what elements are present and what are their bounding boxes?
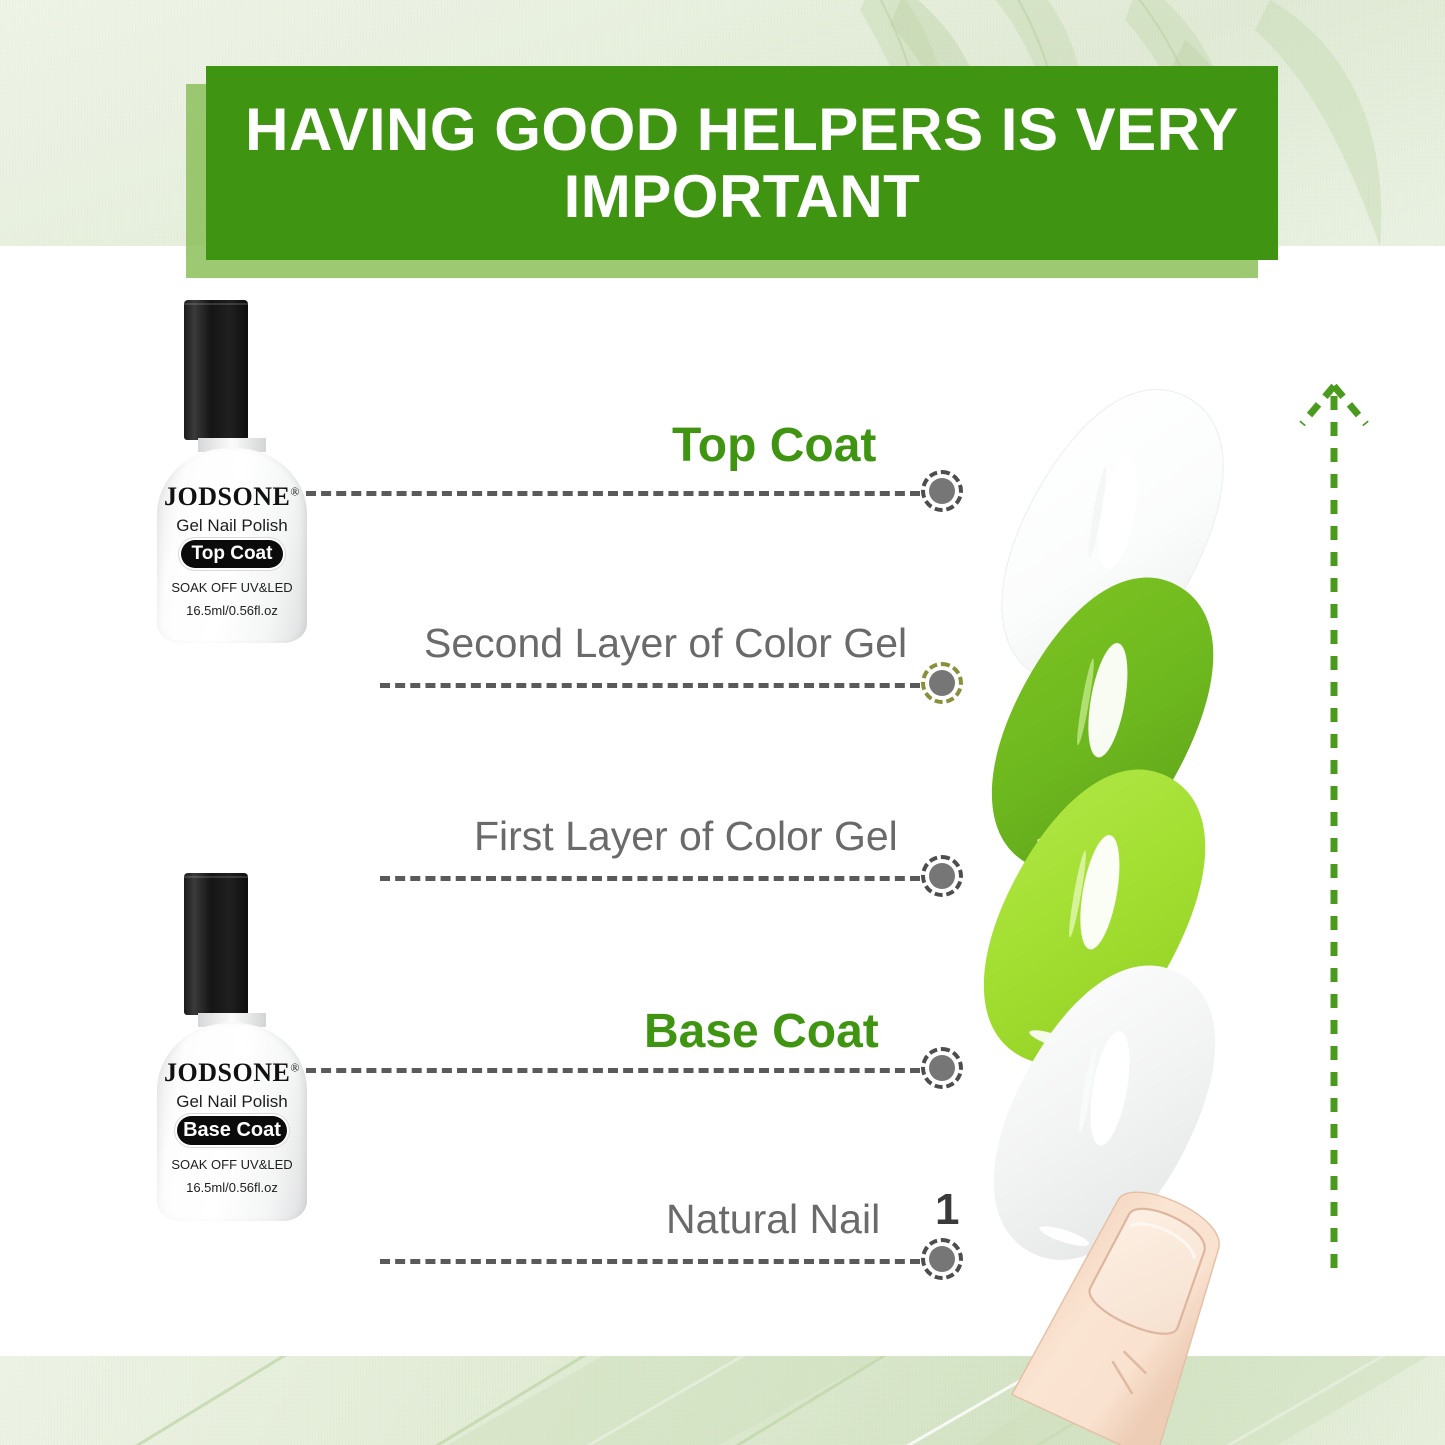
label-natural-nail: Natural Nail (666, 1196, 880, 1243)
bottle-product-line: Gel Nail Polish (157, 1092, 307, 1112)
bottle-cure-text: SOAK OFF UV&LED (157, 580, 307, 595)
page-title: HAVING GOOD HELPERS IS VERY IMPORTANT (227, 96, 1256, 230)
brand-text: JODSONE (164, 1058, 290, 1087)
direction-arrow-up (1296, 372, 1372, 1277)
layer-dot-top-coat[interactable] (920, 469, 964, 513)
bottle-cap (184, 300, 248, 440)
leader-line-first-layer (380, 876, 920, 881)
brand-text: JODSONE (164, 482, 290, 511)
leader-line-base-coat (306, 1068, 920, 1073)
registered-mark-icon: ® (290, 484, 300, 498)
label-top-coat: Top Coat (672, 418, 876, 473)
bottle-variant: Top Coat (192, 543, 273, 565)
infographic-canvas: HAVING GOOD HELPERS IS VERY IMPORTANT To… (0, 0, 1445, 1445)
label-second-layer: Second Layer of Color Gel (424, 620, 907, 667)
bottle-product-line: Gel Nail Polish (157, 516, 307, 536)
bottle-variant-pill: Base Coat (177, 1116, 287, 1145)
bottle-variant-pill: Top Coat (181, 540, 283, 568)
leader-line-second-layer (380, 683, 920, 688)
title-banner: HAVING GOOD HELPERS IS VERY IMPORTANT (206, 66, 1278, 260)
bottle-brand: JODSONE® (157, 1058, 307, 1088)
dot-core-icon (929, 478, 955, 504)
finger-shape (975, 1185, 1305, 1445)
leader-line-natural-nail (380, 1259, 920, 1264)
leader-line-top-coat (306, 491, 920, 496)
bottle-volume-text: 16.5ml/0.56fl.oz (157, 603, 307, 618)
bottle-variant: Base Coat (183, 1119, 281, 1142)
bottle-brand: JODSONE® (157, 482, 307, 512)
arrow-up-icon (1296, 372, 1372, 1272)
bottle-cure-text: SOAK OFF UV&LED (157, 1157, 307, 1172)
label-base-coat: Base Coat (644, 1004, 879, 1059)
finger-illustration (975, 1185, 1305, 1445)
bottle-cap (184, 873, 248, 1015)
label-first-layer: First Layer of Color Gel (474, 813, 898, 860)
bottle-volume-text: 16.5ml/0.56fl.oz (157, 1180, 307, 1195)
registered-mark-icon: ® (290, 1060, 300, 1074)
